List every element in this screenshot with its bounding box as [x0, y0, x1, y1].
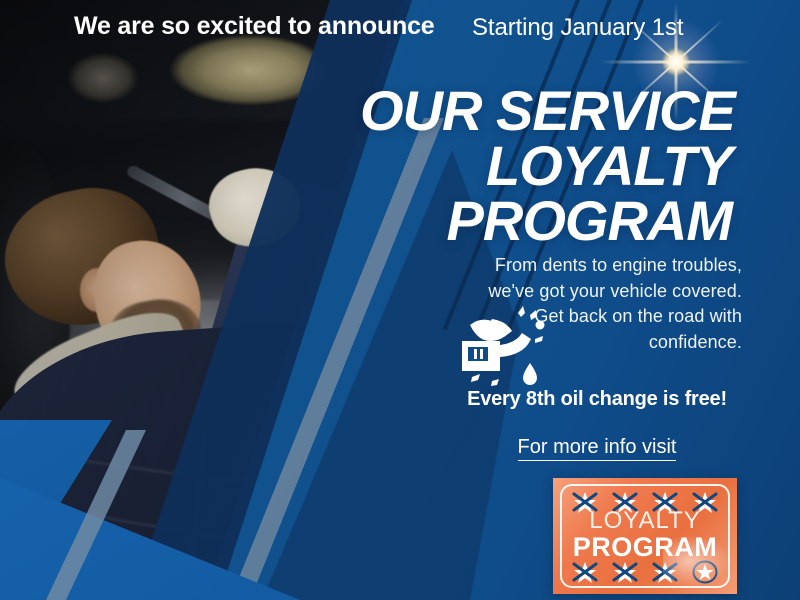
stamp-row-bottom	[553, 560, 737, 584]
stamp-reward	[692, 560, 718, 584]
headline-line-2: LOYALTY	[360, 139, 732, 194]
body-line-1: From dents to engine troubles,	[452, 253, 742, 279]
loyalty-card: LOYALTY PROGRAM	[553, 478, 737, 594]
stamp-punched	[652, 560, 678, 584]
headline-line-1: OUR SERVICE	[360, 84, 732, 139]
page-title: OUR SERVICE LOYALTY PROGRAM	[360, 84, 732, 249]
start-date-text: Starting January 1st	[472, 14, 683, 42]
oil-can-pour-icon	[452, 305, 548, 391]
card-subtitle: PROGRAM	[553, 534, 737, 561]
kicker-text: We are so excited to announce	[74, 12, 435, 41]
stamp-punched	[612, 560, 638, 584]
headline-line-3: PROGRAM	[360, 194, 732, 249]
cta-link-label: For more info visit	[518, 436, 677, 461]
offer-text: Every 8th oil change is free!	[452, 388, 742, 411]
promo-poster: We are so excited to announce Starting J…	[0, 0, 800, 600]
cta-link[interactable]: For more info visit	[452, 436, 742, 459]
stamp-punched	[572, 560, 598, 584]
body-line-2: we've got your vehicle covered.	[452, 279, 742, 305]
card-title: LOYALTY	[553, 509, 737, 533]
